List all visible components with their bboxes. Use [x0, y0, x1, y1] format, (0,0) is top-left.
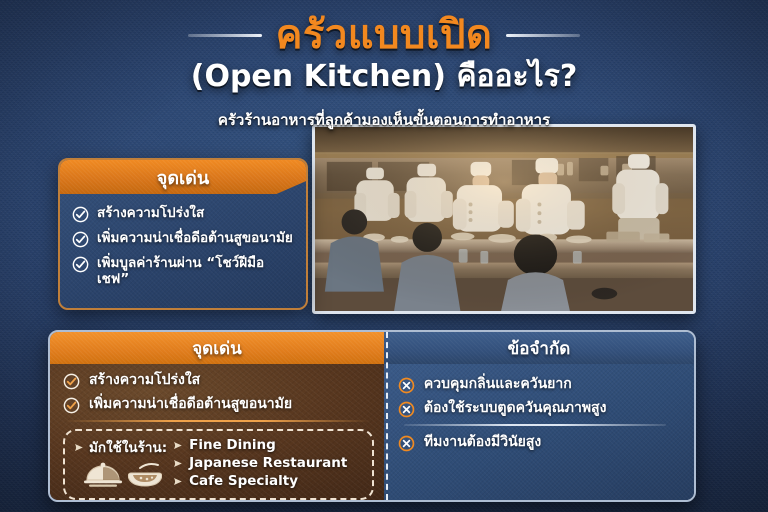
card-limitations-header: ข้อจำกัด: [384, 332, 694, 364]
usage-option-label: Cafe Specialty: [189, 473, 298, 489]
list-item: สร้างความโปร่งใส: [72, 205, 296, 223]
card-compare-divider: [386, 332, 388, 500]
list-item-label: ควบคุมกลิ่นและควันยาก: [424, 376, 572, 393]
photo-illustration: [315, 127, 693, 311]
usage-option: Cafe Specialty: [173, 473, 347, 489]
title-main-row: ครัวแบบเปิด: [0, 14, 768, 56]
card-limitations: ข้อจำกัด ควบคุมกลิ่นและควันยาก ต้องใช้ระ…: [384, 332, 694, 500]
list-item: เพิ่มความน่าเชื่อดีอต้านสูขอนามัย: [63, 396, 374, 414]
card-advantages-bottom-body: สร้างความโปร่งใส เพิ่มความน่าเชื่อดีอต้า…: [50, 364, 384, 500]
arrow-bullet-icon: [173, 440, 184, 451]
list-item-label: สร้างความโปร่งใส: [97, 205, 204, 221]
usage-option-label: Fine Dining: [189, 437, 276, 453]
check-circle-icon: [72, 256, 89, 273]
list-item: เพิ่มบูลค่าร้านผ่าน “โชว์ฝีมือเชฟ”: [72, 255, 296, 288]
card-limitations-body: ควบคุมกลิ่นและควันยาก ต้องใช้ระบบตูดควัน…: [384, 364, 694, 500]
card-advantages-top-title: จุดเด่น: [157, 163, 209, 192]
divider: [404, 424, 666, 426]
list-item-label: ทีมงานต้องมีวินัยสูง: [424, 434, 541, 451]
list-item-label: เพิ่มความน่าเชื่อดีอต้านสูขอนามัย: [97, 230, 293, 246]
divider: [65, 420, 370, 422]
cross-circle-icon: [398, 401, 415, 418]
page-title: ครัวแบบเปิด: [276, 14, 493, 56]
arrow-bullet-icon: [173, 458, 184, 469]
usage-box: มักใช้ในร้าน:: [63, 429, 374, 500]
usage-label: มักใช้ในร้าน:: [89, 436, 167, 458]
list-item-label: ต้องใช้ระบบตูดควันคุณภาพสูง: [424, 400, 607, 417]
check-circle-icon: [72, 206, 89, 223]
cloche-dome-icon: [83, 460, 123, 492]
check-circle-icon: [63, 397, 80, 414]
check-circle-icon: [63, 373, 80, 390]
card-advantages-top-header: จุดเด่น: [60, 160, 306, 194]
arrow-bullet-icon: [173, 476, 184, 487]
card-advantages-top-list: สร้างความโปร่งใส เพิ่มความน่าเชื่อดีอต้า…: [60, 194, 306, 288]
card-advantages-bottom: จุดเด่น สร้างความโปร่งใส เพิ่มความน่าเชื…: [50, 332, 384, 500]
card-advantages-top: จุดเด่น สร้างความโปร่งใส เพิ่มความน่าเชื…: [58, 158, 308, 310]
usage-option: Japanese Restaurant: [173, 455, 347, 471]
card-compare: จุดเด่น สร้างความโปร่งใส เพิ่มความน่าเชื…: [48, 330, 696, 502]
list-item: ควบคุมกลิ่นและควันยาก: [398, 376, 684, 394]
list-item-label: เพิ่มบูลค่าร้านผ่าน “โชว์ฝีมือเชฟ”: [97, 255, 296, 288]
usage-options: Fine Dining Japanese Restaurant Cafe Spe…: [173, 436, 347, 492]
list-item: ต้องใช้ระบบตูดควันคุณภาพสูง: [398, 400, 684, 418]
cross-circle-icon: [398, 435, 415, 452]
usage-option-label: Japanese Restaurant: [189, 455, 347, 471]
soup-bowl-icon: [128, 460, 162, 492]
title-block: ครัวแบบเปิด (Open Kitchen) คืออะไร?: [0, 14, 768, 94]
check-circle-icon: [72, 231, 89, 248]
cross-circle-icon: [398, 377, 415, 394]
card-advantages-bottom-header: จุดเด่น: [50, 332, 384, 364]
list-item-label: เพิ่มความน่าเชื่อดีอต้านสูขอนามัย: [89, 396, 292, 413]
list-item-label: สร้างความโปร่งใส: [89, 372, 200, 389]
list-item: สร้างความโปร่งใส: [63, 372, 374, 390]
arrow-bullet-icon: [74, 442, 85, 453]
list-item: ทีมงานต้องมีวินัยสูง: [398, 434, 684, 452]
card-advantages-bottom-title: จุดเด่น: [192, 335, 241, 362]
open-kitchen-photo: [312, 124, 696, 314]
list-item: เพิ่มความน่าเชื่อดีอต้านสูขอนามัย: [72, 230, 296, 248]
usage-icons: [74, 460, 167, 492]
page-subtitle-en: (Open Kitchen) คืออะไร?: [0, 60, 768, 94]
page-description: ครัวร้านอาหารที่ลูกค้ามองเห็นขั้นตอนการท…: [0, 108, 768, 132]
usage-label-group: มักใช้ในร้าน:: [74, 436, 167, 492]
usage-label-row: มักใช้ในร้าน:: [74, 436, 167, 458]
card-limitations-title: ข้อจำกัด: [508, 335, 571, 362]
title-rule-right-icon: [506, 34, 580, 37]
title-rule-left-icon: [188, 34, 262, 37]
usage-option: Fine Dining: [173, 437, 347, 453]
